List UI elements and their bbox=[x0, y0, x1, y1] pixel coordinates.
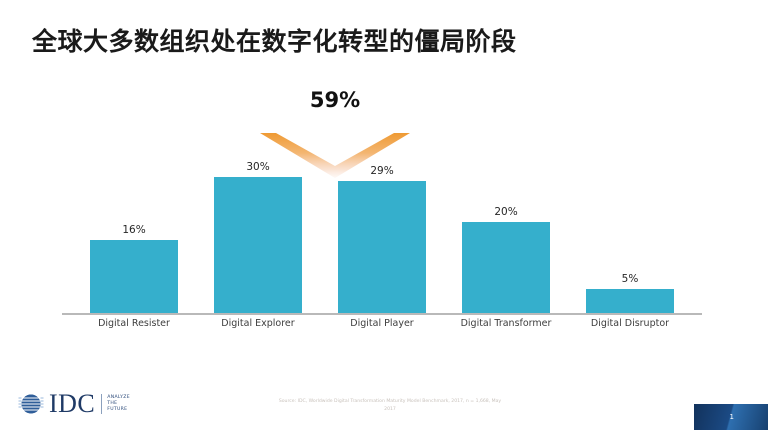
globe-icon bbox=[18, 391, 44, 417]
table-row bbox=[462, 222, 550, 313]
table-row bbox=[338, 181, 426, 313]
x-tick-label-0: Digital Resister bbox=[69, 318, 199, 329]
x-tick-label-3: Digital Transformer bbox=[441, 318, 571, 329]
idc-logo: IDC ANALYZE THE FUTURE bbox=[18, 388, 130, 420]
source-citation: Source: IDC, Worldwide Digital Transform… bbox=[190, 398, 590, 414]
bar-group-3: 20% bbox=[462, 206, 550, 313]
idc-wordmark: IDC bbox=[49, 391, 95, 417]
page-number: 1 bbox=[730, 413, 734, 421]
idc-tagline-line-1: ANALYZE bbox=[107, 395, 130, 401]
bar-group-2: 29% bbox=[338, 165, 426, 313]
slide: 全球大多数组织处在数字化转型的僵局阶段 59% 16% bbox=[0, 0, 768, 432]
bar-value-label: 5% bbox=[586, 273, 674, 285]
source-line-2: 2017 bbox=[190, 406, 590, 414]
table-row bbox=[90, 240, 178, 313]
bar-chart: 59% 16% 30% bbox=[0, 60, 768, 350]
bar-group-1: 30% bbox=[214, 161, 302, 313]
bar-value-label: 30% bbox=[214, 161, 302, 173]
x-axis-tick-labels: Digital Resister Digital Explorer Digita… bbox=[0, 318, 768, 342]
source-line-1: Source: IDC, Worldwide Digital Transform… bbox=[190, 398, 590, 406]
bar-group-0: 16% bbox=[90, 224, 178, 313]
bar-value-label: 29% bbox=[338, 165, 426, 177]
x-tick-label-1: Digital Explorer bbox=[193, 318, 323, 329]
plot-area: 16% 30% 29% 20% 5% bbox=[0, 60, 768, 315]
x-tick-label-4: Digital Disruptor bbox=[565, 318, 695, 329]
idc-tagline: ANALYZE THE FUTURE bbox=[107, 395, 130, 414]
x-tick-label-2: Digital Player bbox=[317, 318, 447, 329]
idc-tagline-line-3: FUTURE bbox=[107, 407, 130, 413]
slide-footer: IDC ANALYZE THE FUTURE Source: IDC, Worl… bbox=[0, 384, 768, 432]
bar-group-4: 5% bbox=[586, 273, 674, 313]
x-axis-line bbox=[62, 313, 702, 315]
logo-divider bbox=[101, 394, 102, 414]
table-row bbox=[586, 289, 674, 313]
bar-value-label: 16% bbox=[90, 224, 178, 236]
table-row bbox=[214, 177, 302, 313]
bar-value-label: 20% bbox=[462, 206, 550, 218]
page-title: 全球大多数组织处在数字化转型的僵局阶段 bbox=[32, 22, 732, 58]
